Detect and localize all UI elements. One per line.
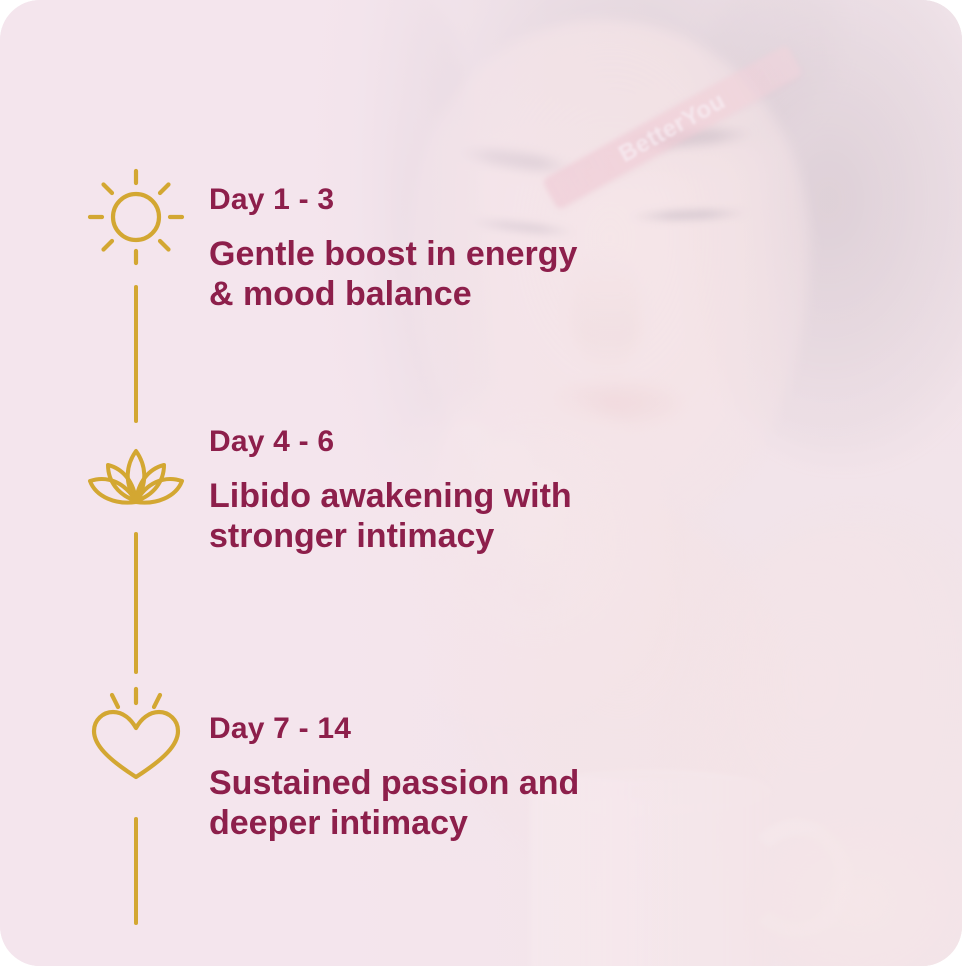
benefits-timeline-card: BetterYou [0,0,962,966]
timeline-connector-1 [134,285,138,423]
timeline-connector-3 [134,817,138,925]
step-3-day-label: Day 7 - 14 [209,712,639,747]
timeline-step-1: Day 1 - 3 Gentle boost in energy & mood … [209,183,639,314]
timeline-step-2: Day 4 - 6 Libido awakening with stronger… [209,425,639,556]
step-2-description: Libido awakening with stronger intimacy [209,476,639,556]
sparkle-heart-icon [82,681,190,789]
timeline-connector-2 [134,532,138,674]
lotus-icon [82,425,190,533]
step-1-day-label: Day 1 - 3 [209,183,639,218]
step-3-description: Sustained passion and deeper intimacy [209,763,639,843]
timeline-step-3: Day 7 - 14 Sustained passion and deeper … [209,712,639,843]
sun-icon [82,163,190,271]
timeline: Day 1 - 3 Gentle boost in energy & mood … [0,0,962,966]
step-1-description: Gentle boost in energy & mood balance [209,234,639,314]
step-2-day-label: Day 4 - 6 [209,425,639,460]
